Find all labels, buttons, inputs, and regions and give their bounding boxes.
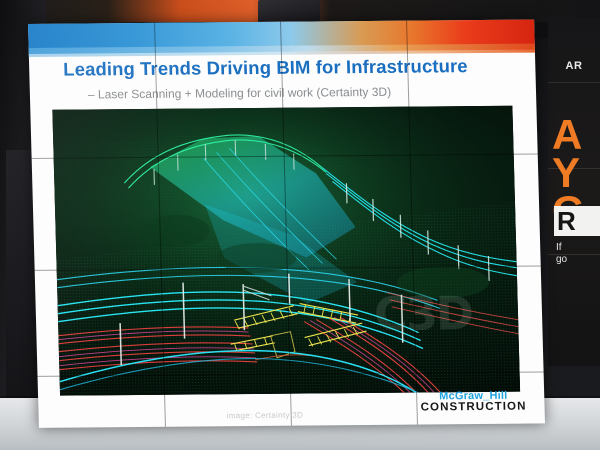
projection-screen: Leading Trends Driving BIM for Infrastru… <box>28 20 545 428</box>
laser-scan-image: C3D <box>52 106 520 396</box>
point-cloud-vectors <box>52 106 520 396</box>
signage-white-badge: R <box>554 206 600 236</box>
page-title: Leading Trends Driving BIM for Infrastru… <box>63 55 514 81</box>
image-watermark: C3D <box>373 286 472 341</box>
screenshot-root: AR AYG R Ifgo Leading Trends Driving BIM… <box>0 0 600 450</box>
right-signage: AR AYG R Ifgo <box>548 18 600 366</box>
signage-top-label: AR <box>548 60 600 72</box>
mcgraw-hill-logo: McGraw_Hill CONSTRUCTION <box>420 391 526 415</box>
image-credit: image: Certainty 3D <box>227 411 304 421</box>
logo-line-2: CONSTRUCTION <box>421 402 527 415</box>
signage-subtext: Ifgo <box>556 242 600 266</box>
